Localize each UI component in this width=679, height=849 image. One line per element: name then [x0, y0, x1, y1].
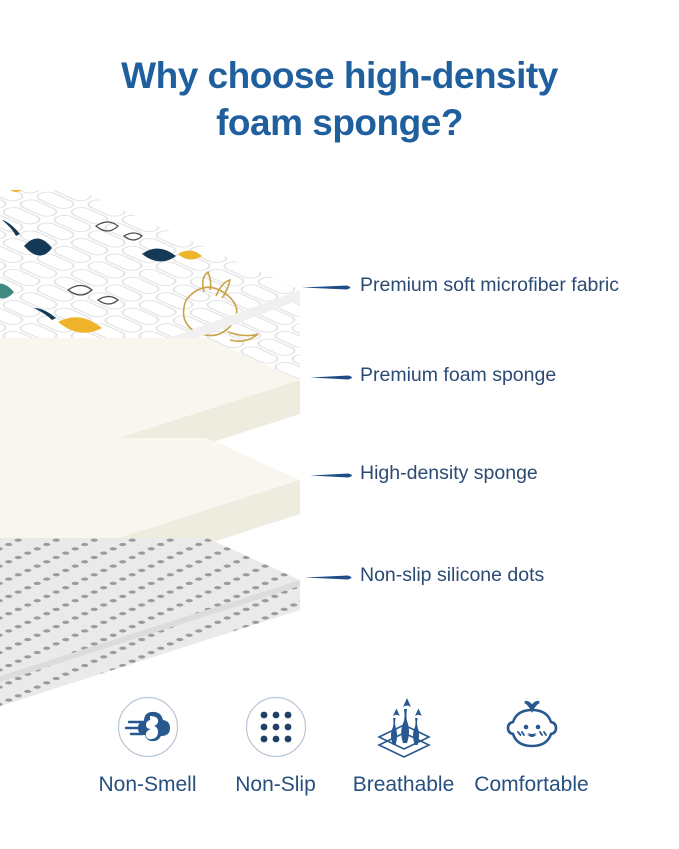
- feature-comfortable: Comfortable: [468, 694, 596, 795]
- airflow-layers-icon: [371, 694, 437, 760]
- feature-label-comfortable: Comfortable: [474, 774, 588, 795]
- callout-line-3: [306, 473, 356, 478]
- feature-label-non-slip: Non-Slip: [235, 774, 316, 795]
- page-title-line-1: Why choose high-density: [0, 52, 679, 99]
- callout-line-1: [297, 285, 355, 290]
- feature-strip: Non-Smell Non-Slip: [0, 694, 679, 795]
- feature-non-smell: Non-Smell: [84, 694, 212, 795]
- feature-label-breathable: Breathable: [353, 774, 455, 795]
- feature-breathable: Breathable: [340, 694, 468, 795]
- callout-line-4: [300, 575, 356, 580]
- feature-non-slip: Non-Slip: [212, 694, 340, 795]
- odor-free-icon: [115, 694, 181, 760]
- infographic-page: Why choose high-density foam sponge?: [0, 0, 679, 849]
- callout-label-silicone-dots: Non-slip silicone dots: [360, 566, 544, 586]
- page-title-line-2: foam sponge?: [0, 99, 679, 146]
- dot-grid-icon: [243, 694, 309, 760]
- baby-face-icon: [499, 694, 565, 760]
- mattress-layers-illustration: [0, 150, 348, 710]
- callout-label-high-density-sponge: High-density sponge: [360, 464, 538, 484]
- callout-label-premium-foam: Premium foam sponge: [360, 366, 556, 386]
- feature-label-non-smell: Non-Smell: [98, 774, 196, 795]
- callout-label-microfiber-fabric: Premium soft microfiber fabric: [360, 276, 619, 296]
- page-title: Why choose high-density foam sponge?: [0, 52, 679, 147]
- callout-line-2: [306, 375, 356, 380]
